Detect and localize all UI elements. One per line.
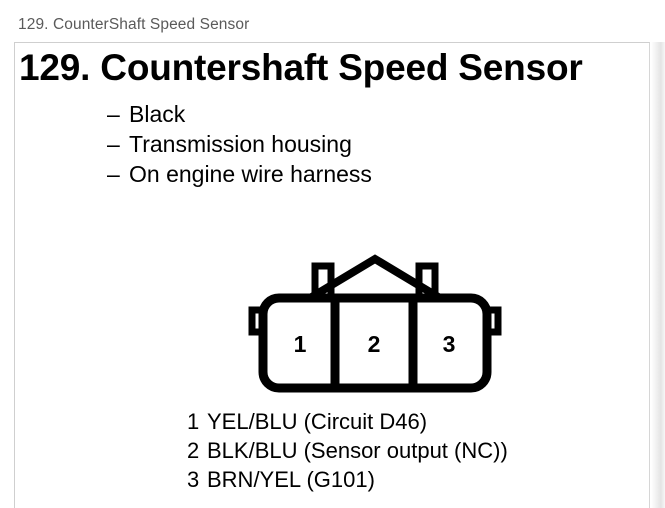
- viewer-header-title: 129. CounterShaft Speed Sensor: [18, 16, 249, 34]
- pin-description: BRN/YEL (G101): [207, 465, 375, 494]
- dash-bullet-icon: –: [107, 99, 129, 129]
- dash-bullet-icon: –: [107, 159, 129, 189]
- cavity-number-3: 3: [443, 331, 456, 357]
- pin-number: 2: [187, 436, 207, 465]
- cavity-number-1: 1: [294, 331, 307, 357]
- list-item-label: On engine wire harness: [129, 159, 372, 189]
- pin-number: 3: [187, 465, 207, 494]
- list-item: 3 BRN/YEL (G101): [187, 465, 508, 494]
- pin-description: BLK/BLU (Sensor output (NC)): [207, 436, 508, 465]
- list-item: 2 BLK/BLU (Sensor output (NC)): [187, 436, 508, 465]
- list-item: – Transmission housing: [107, 129, 372, 159]
- connector-diagram: 1 2 3: [235, 246, 515, 406]
- cavity-number-2: 2: [368, 331, 381, 357]
- pin-number: 1: [187, 407, 207, 436]
- pin-legend: 1 YEL/BLU (Circuit D46) 2 BLK/BLU (Senso…: [187, 407, 508, 494]
- list-item: – On engine wire harness: [107, 159, 372, 189]
- list-item: – Black: [107, 99, 372, 129]
- page-edge-shadow: [651, 42, 665, 508]
- pin-description: YEL/BLU (Circuit D46): [207, 407, 427, 436]
- list-item-label: Transmission housing: [129, 129, 352, 159]
- list-item-label: Black: [129, 99, 185, 129]
- document-page: 129. Countershaft Speed Sensor – Black –…: [14, 42, 650, 508]
- dash-bullet-icon: –: [107, 129, 129, 159]
- attribute-list: – Black – Transmission housing – On engi…: [107, 99, 372, 189]
- page-title: 129. Countershaft Speed Sensor: [19, 47, 583, 89]
- list-item: 1 YEL/BLU (Circuit D46): [187, 407, 508, 436]
